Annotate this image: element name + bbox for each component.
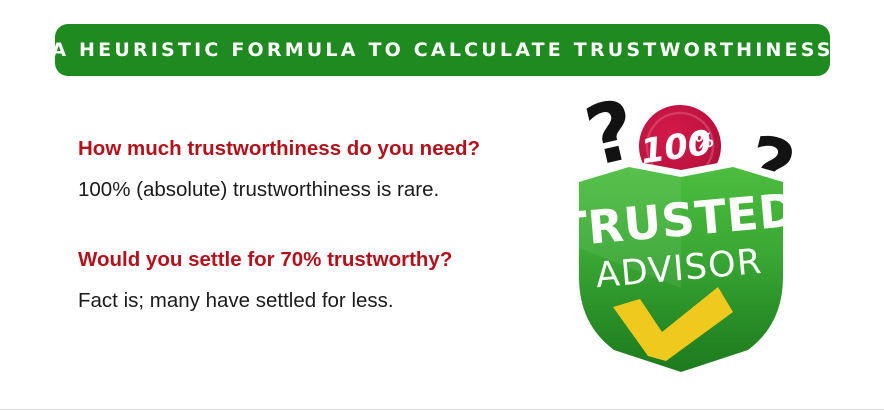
title-banner-text: A HEURISTIC FORMULA TO CALCULATE TRUSTWO…: [51, 39, 833, 61]
answer-text-2: Fact is; many have settled for less.: [78, 288, 452, 314]
content-block-2: Would you settle for 70% trustworthy? Fa…: [78, 247, 452, 314]
question-heading-2: Would you settle for 70% trustworthy?: [78, 247, 452, 273]
trusted-advisor-badge: ? ? 100 % TRUSTED ADVISOR: [556, 88, 806, 380]
title-banner: A HEURISTIC FORMULA TO CALCULATE TRUSTWO…: [55, 24, 830, 76]
percent-symbol-text: %: [694, 129, 716, 153]
question-heading-1: How much trustworthiness do you need?: [78, 136, 480, 162]
answer-text-1: 100% (absolute) trustworthiness is rare.: [78, 177, 480, 203]
content-block-1: How much trustworthiness do you need? 10…: [78, 136, 480, 203]
slide-canvas: A HEURISTIC FORMULA TO CALCULATE TRUSTWO…: [0, 0, 884, 410]
